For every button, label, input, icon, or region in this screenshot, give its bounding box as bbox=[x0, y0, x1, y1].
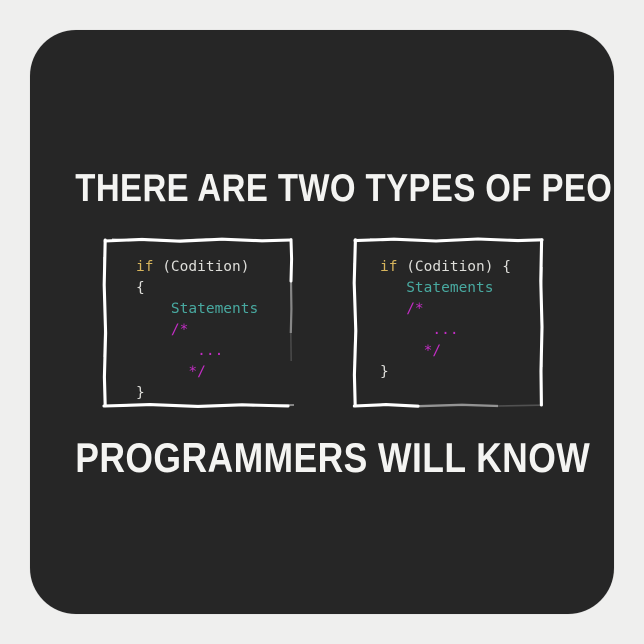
code-line: */ bbox=[136, 362, 294, 383]
code-line: { bbox=[136, 278, 294, 299]
code-line: /* bbox=[136, 320, 294, 341]
code-token-keyword: if bbox=[136, 259, 162, 275]
code-line: if (Codition) bbox=[136, 257, 294, 278]
code-line: } bbox=[380, 362, 544, 383]
code-block-knr: if (Codition) { Statements /* ... */} bbox=[352, 237, 544, 409]
code-line: Statements bbox=[380, 278, 544, 299]
code-token-plain: } bbox=[380, 364, 389, 380]
sticker-square: THERE ARE TWO TYPES OF PEOPLE bbox=[30, 30, 614, 614]
code-token-comment: */ bbox=[380, 343, 441, 359]
code-line: ... bbox=[136, 341, 294, 362]
code-line: /* bbox=[380, 299, 544, 320]
code-token-plain: (Codition) { bbox=[406, 259, 511, 275]
code-token-variable: Statements bbox=[136, 301, 258, 317]
code-token-comment: ... bbox=[136, 343, 223, 359]
code-panel-knr: if (Codition) { Statements /* ... */} bbox=[352, 237, 544, 409]
code-token-variable: Statements bbox=[380, 280, 494, 296]
code-token-keyword: if bbox=[380, 259, 406, 275]
code-line: if (Codition) { bbox=[380, 257, 544, 278]
headline-top: THERE ARE TWO TYPES OF PEOPLE bbox=[75, 167, 568, 211]
headline-bottom: PROGRAMMERS WILL KNOW bbox=[75, 434, 568, 482]
code-token-comment: */ bbox=[136, 364, 206, 380]
code-token-plain: } bbox=[136, 385, 145, 401]
code-line: } bbox=[136, 383, 294, 404]
code-token-comment: ... bbox=[380, 322, 459, 338]
code-line: Statements bbox=[136, 299, 294, 320]
canvas: THERE ARE TWO TYPES OF PEOPLE bbox=[0, 0, 644, 644]
code-token-plain: (Codition) bbox=[162, 259, 249, 275]
code-block-allman: if (Codition){ Statements /* ... */} bbox=[102, 237, 294, 409]
code-panel-allman: if (Codition){ Statements /* ... */} bbox=[102, 237, 294, 409]
code-token-comment: /* bbox=[136, 322, 188, 338]
code-line: */ bbox=[380, 341, 544, 362]
code-line: ... bbox=[380, 320, 544, 341]
code-token-comment: /* bbox=[380, 301, 424, 317]
code-token-plain: { bbox=[136, 280, 145, 296]
